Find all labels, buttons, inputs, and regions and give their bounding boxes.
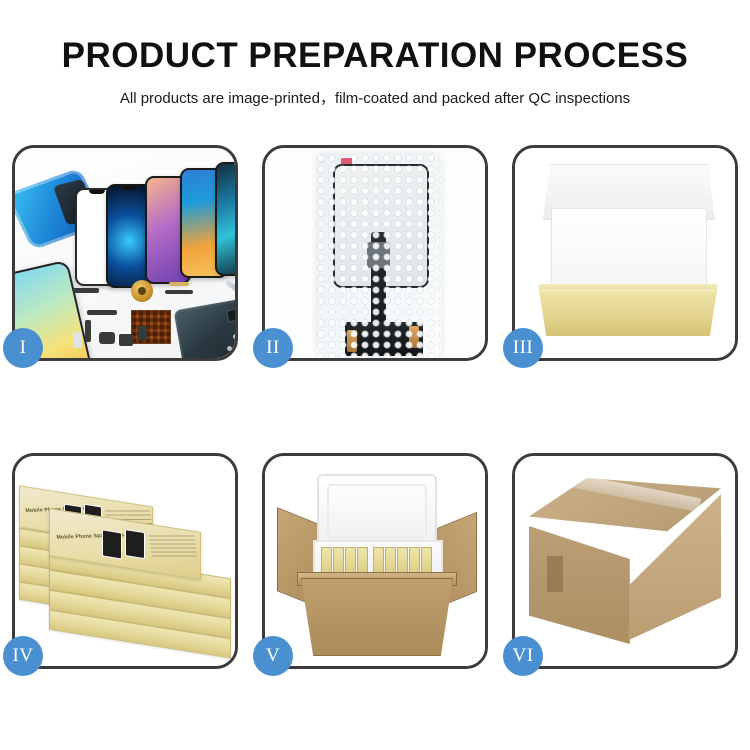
tweezers-icon bbox=[225, 279, 235, 301]
part-vibrator bbox=[119, 334, 133, 346]
step-badge-1: I bbox=[3, 328, 43, 368]
step-panel-3[interactable]: III bbox=[512, 145, 738, 361]
step-image-products-and-parts bbox=[15, 148, 235, 358]
small-spare-components bbox=[73, 276, 235, 358]
box-front-wall bbox=[539, 290, 717, 336]
assorted-smartphones bbox=[75, 162, 235, 282]
header: PRODUCT PREPARATION PROCESS All products… bbox=[0, 0, 750, 108]
lid-phone-image bbox=[102, 529, 122, 559]
screw-icon bbox=[227, 346, 232, 351]
phone-teal bbox=[215, 162, 235, 276]
step-panel-1[interactable]: I bbox=[12, 145, 238, 361]
step-image-stacked-retail-boxes: Mobile Phone Spare Parts Mobile Phone Sp… bbox=[15, 456, 235, 666]
white-foam-lid bbox=[317, 474, 437, 548]
carton-seam bbox=[547, 556, 563, 592]
part-speaker-mesh bbox=[73, 288, 99, 293]
step-badge-2: II bbox=[253, 328, 293, 368]
step-badge-3: III bbox=[503, 328, 543, 368]
bubble-texture bbox=[317, 154, 441, 358]
steps-grid: I II bbox=[12, 145, 738, 685]
part-camera-module bbox=[99, 332, 115, 344]
part-button-flex bbox=[165, 290, 193, 294]
qc-label bbox=[341, 158, 352, 164]
step-image-sealed-shipping-carton bbox=[515, 456, 735, 666]
copper-coil-icon bbox=[131, 280, 153, 302]
part-flex-strip bbox=[169, 282, 189, 286]
screw-icon bbox=[233, 334, 235, 339]
phone-back-housing bbox=[174, 298, 235, 358]
part-sim-tray bbox=[73, 332, 82, 348]
step-badge-5: V bbox=[253, 636, 293, 676]
step-panel-2[interactable]: II bbox=[262, 145, 488, 361]
packing-tape bbox=[551, 470, 701, 512]
step-panel-4[interactable]: Mobile Phone Spare Parts Mobile Phone Sp… bbox=[12, 453, 238, 669]
sealed-brown-carton bbox=[529, 478, 721, 650]
lid-spec-text bbox=[149, 534, 198, 556]
page-subtitle: All products are image-printed，film-coat… bbox=[0, 76, 750, 108]
bubble-wrap-bag bbox=[317, 154, 441, 358]
step-badge-4: IV bbox=[3, 636, 43, 676]
step-image-foam-lined-inner-box bbox=[515, 148, 735, 358]
part-cable-b bbox=[85, 320, 91, 342]
carton-seam bbox=[547, 644, 563, 666]
notch-icon bbox=[89, 190, 105, 194]
carton-front-wall bbox=[301, 578, 453, 656]
product-preparation-infographic: PRODUCT PREPARATION PROCESS All products… bbox=[0, 0, 750, 750]
lid-phone-image bbox=[125, 529, 145, 559]
stacked-yellow-boxes: Mobile Phone Spare Parts Mobile Phone Sp… bbox=[19, 468, 233, 658]
step-panel-6[interactable]: VI bbox=[512, 453, 738, 669]
white-foam-sheet bbox=[551, 208, 707, 296]
page-title: PRODUCT PREPARATION PROCESS bbox=[0, 0, 750, 76]
open-brown-carton bbox=[279, 474, 475, 656]
step-panel-5[interactable]: V bbox=[262, 453, 488, 669]
yellow-kraft-flat-box bbox=[533, 164, 723, 344]
notch-icon bbox=[121, 186, 137, 190]
step-image-bubble-wrapped-screen bbox=[265, 148, 485, 358]
step-image-carton-with-foam-insert bbox=[265, 456, 485, 666]
part-connector bbox=[137, 326, 147, 340]
step-badge-6: VI bbox=[503, 636, 543, 676]
part-cable-a bbox=[87, 310, 117, 315]
